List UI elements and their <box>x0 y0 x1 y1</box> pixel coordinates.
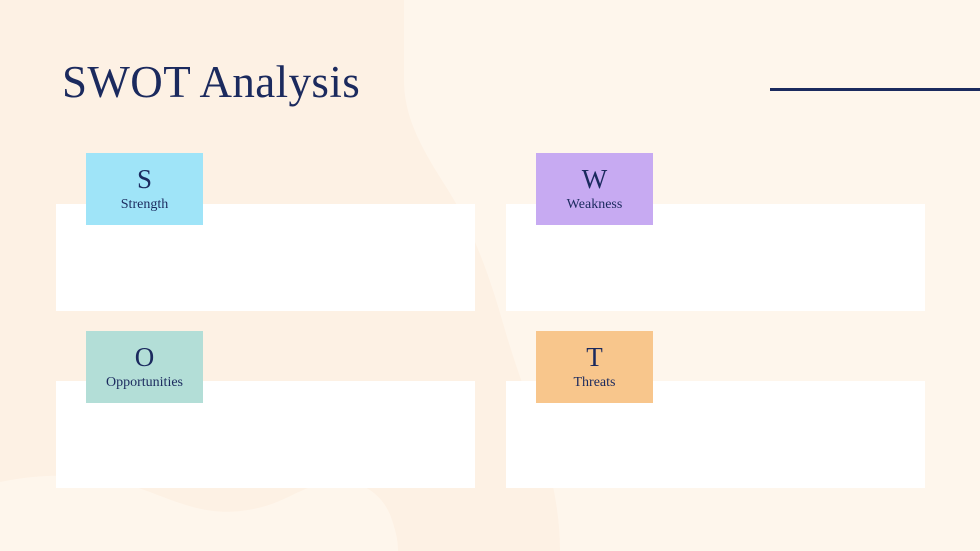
swot-card-strength-letter: S <box>137 164 152 194</box>
swot-analysis-slide: SWOT Analysis S Strength W Weakness O Op… <box>0 0 980 551</box>
title-accent-rule <box>770 88 980 91</box>
swot-card-threats-letter: T <box>586 342 603 372</box>
page-title: SWOT Analysis <box>62 53 360 111</box>
swot-card-weakness-letter: W <box>582 164 607 194</box>
swot-card-opportunities-label: Opportunities <box>106 373 183 392</box>
swot-card-strength[interactable]: S Strength <box>86 153 203 225</box>
swot-card-threats-label: Threats <box>574 373 616 392</box>
swot-card-opportunities-letter: O <box>135 342 155 372</box>
swot-card-weakness-label: Weakness <box>567 195 623 214</box>
swot-card-strength-label: Strength <box>121 195 168 214</box>
swot-card-opportunities[interactable]: O Opportunities <box>86 331 203 403</box>
swot-card-weakness[interactable]: W Weakness <box>536 153 653 225</box>
swot-card-threats[interactable]: T Threats <box>536 331 653 403</box>
